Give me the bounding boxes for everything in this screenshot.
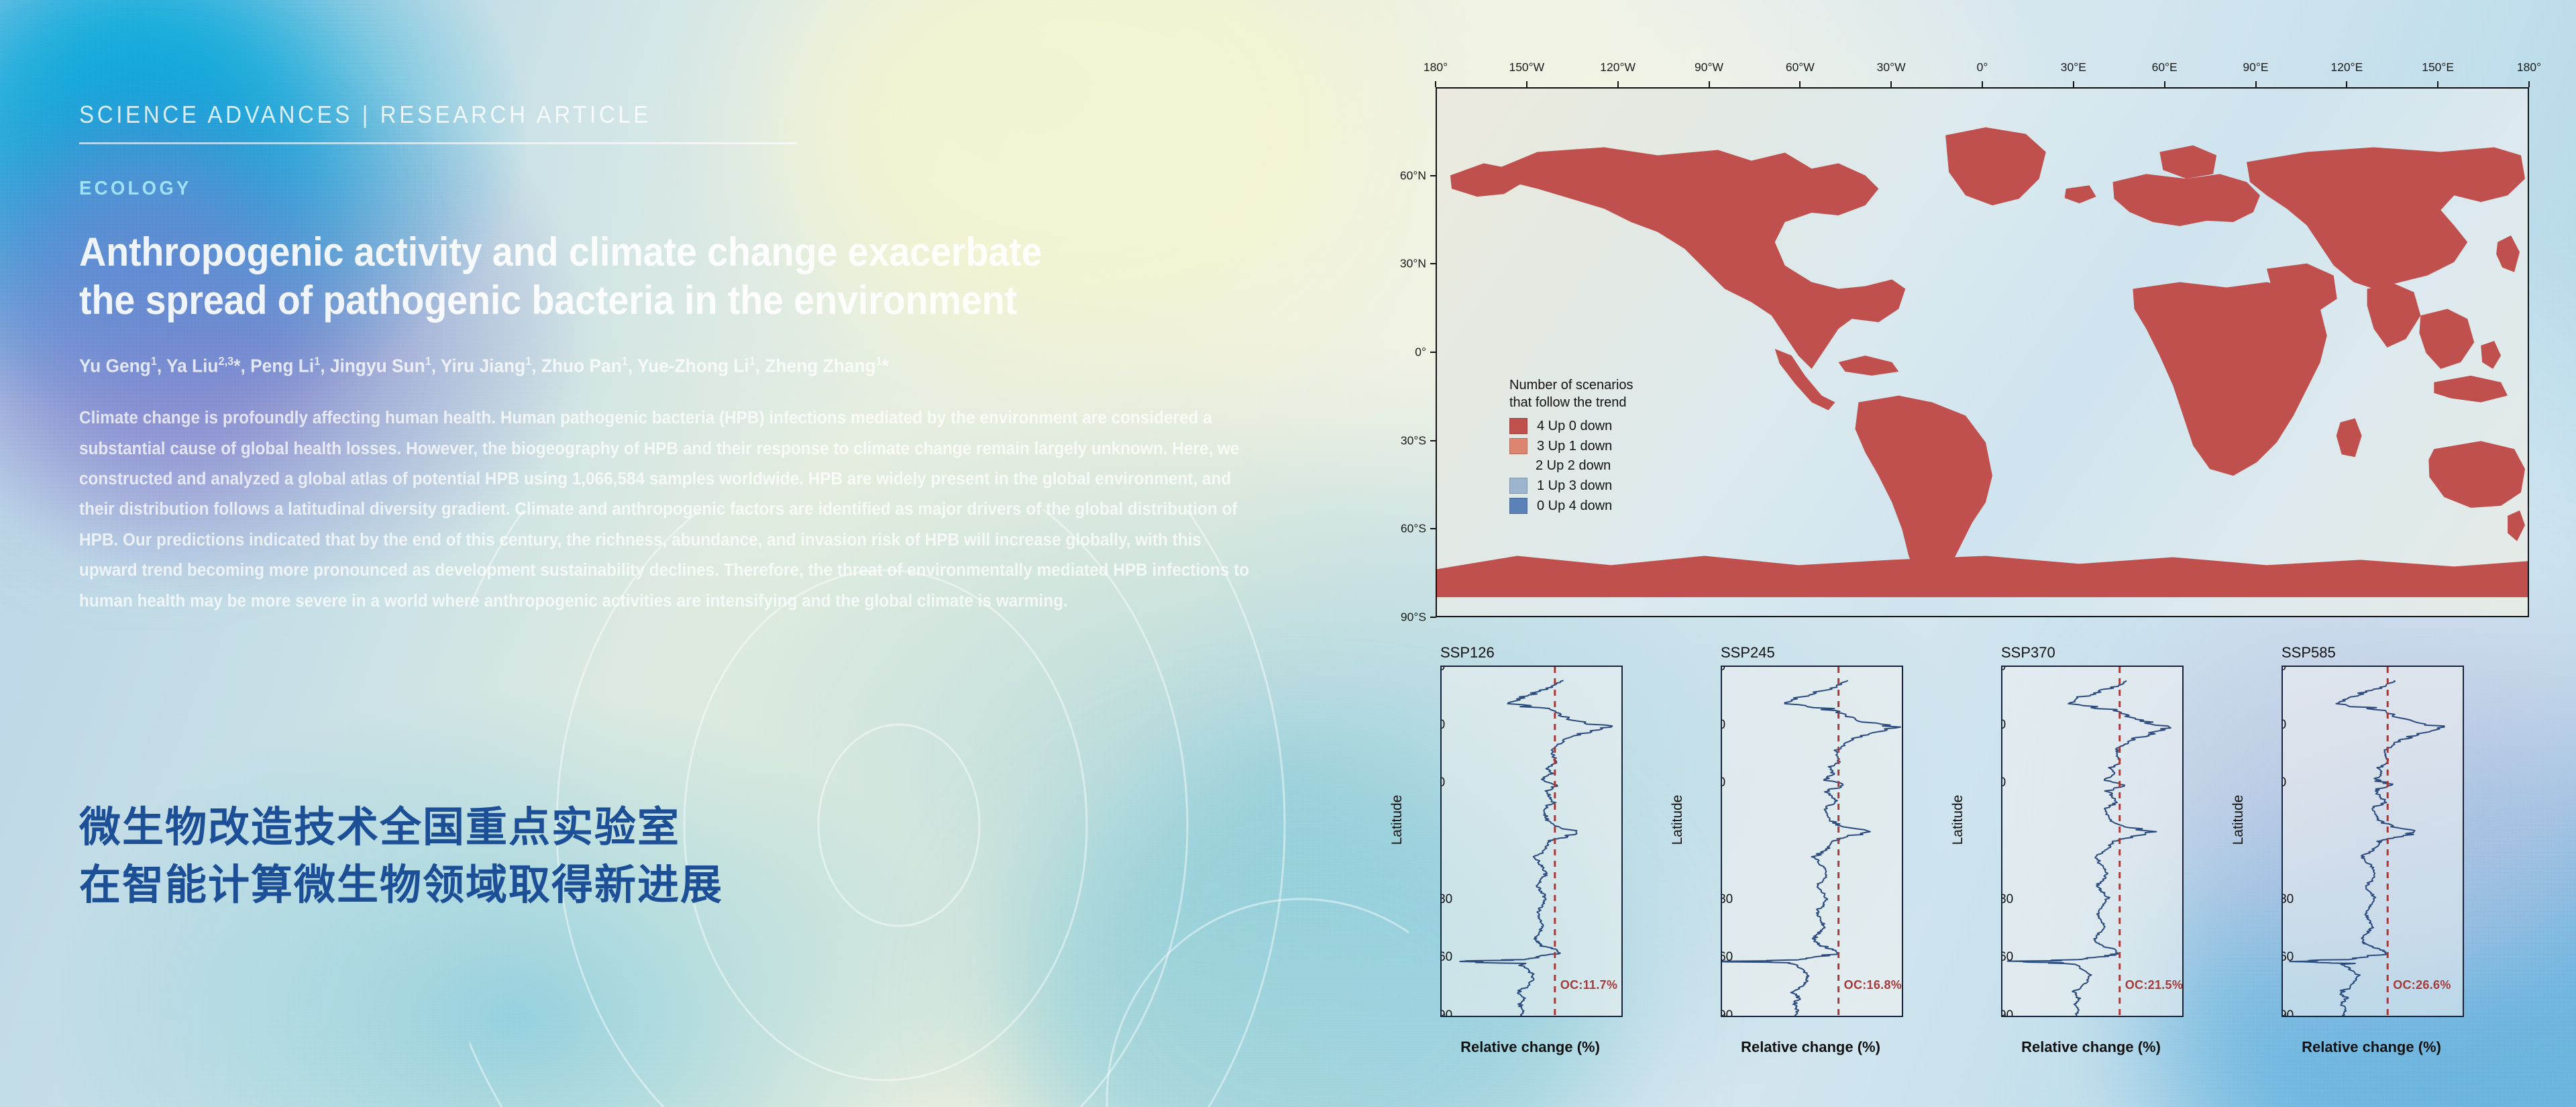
- panel-y-tick: [2001, 899, 2002, 900]
- panel-y-tick: [2282, 782, 2283, 784]
- panel-y-tick: [1440, 782, 1442, 784]
- article-text-column: SCIENCE ADVANCES | RESEARCH ARTICLE ECOL…: [79, 101, 1327, 617]
- panel-plot-area: 9060300−30−60−90−40−2002040OC:16.8%: [1721, 666, 1903, 1017]
- legend-label: 4 Up 0 down: [1537, 419, 1612, 434]
- panel-y-tick: [1721, 957, 1722, 958]
- map-lon-tick-label: 30°E: [2061, 60, 2086, 74]
- legend-label: 1 Up 3 down: [1537, 478, 1612, 494]
- legend-item: 3 Up 1 down: [1509, 438, 1737, 454]
- figure-panel: 180°150°W120°W90°W60°W30°W0°30°E60°E90°E…: [1399, 40, 2553, 1087]
- map-lat-tick-label: 60°S: [1401, 522, 1426, 536]
- map-lat-tick-label: 0°: [1415, 346, 1426, 360]
- panel-y-tick: [2282, 899, 2283, 900]
- ssp-panel-row: SSP1269060300−30−60−90−40−2002040OC:11.7…: [1399, 644, 2553, 1087]
- map-lon-tick: [1982, 81, 1983, 87]
- map-lon-tick: [2073, 81, 2074, 87]
- map-lon-tick: [1526, 81, 1527, 87]
- panel-y-tick: [1440, 666, 1442, 668]
- panel-plot-area: 9060300−30−60−90−50−250255075OC:26.6%: [2282, 666, 2464, 1017]
- map-lon-tick-label: 60°W: [1786, 60, 1815, 74]
- header-divider: [79, 142, 797, 144]
- map-lat-tick-label: 30°S: [1401, 433, 1426, 447]
- map-lon-tick: [2346, 81, 2347, 87]
- panel-y-tick: [2282, 957, 2283, 958]
- panel-y-axis-label: Latitude: [1389, 795, 1405, 845]
- panel-y-axis-label: Latitude: [1670, 795, 1686, 845]
- map-lon-tick-label: 120°E: [2330, 60, 2363, 74]
- map-lon-tick: [2528, 81, 2530, 87]
- ssp-panel-ssp126: SSP1269060300−30−60−90−40−2002040OC:11.7…: [1399, 644, 1679, 1087]
- map-lat-tick-label: 30°N: [1400, 257, 1426, 271]
- chinese-banner-line-2: 在智能计算微生物领域取得新进展: [79, 856, 1152, 914]
- title-line-2: the spread of pathogenic bacteria in the…: [79, 276, 1240, 325]
- panel-title: SSP245: [1721, 644, 1775, 662]
- map-landmasses: [1437, 89, 2528, 616]
- panel-y-tick: [1440, 841, 1442, 842]
- map-lon-tick: [1435, 81, 1436, 87]
- map-lon-tick: [1709, 81, 1710, 87]
- panel-series: [1722, 667, 1902, 1016]
- page-title: Anthropogenic activity and climate chang…: [79, 228, 1240, 325]
- panel-y-axis-label: Latitude: [1950, 795, 1966, 845]
- journal-kicker: SCIENCE ADVANCES | RESEARCH ARTICLE: [79, 101, 1227, 129]
- legend-swatch: [1509, 459, 1526, 474]
- oc-annotation: OC:26.6%: [2393, 978, 2451, 992]
- panel-series: [2283, 667, 2463, 1016]
- legend-item: 0 Up 4 down: [1509, 498, 1737, 514]
- panel-title: SSP370: [2001, 644, 2055, 662]
- world-map-figure: 180°150°W120°W90°W60°W30°W0°30°E60°E90°E…: [1436, 60, 2529, 617]
- map-lon-tick-label: 0°: [1977, 60, 1988, 74]
- map-plot-area: Number of scenarios that follow the tren…: [1436, 87, 2529, 617]
- panel-y-tick: [1440, 957, 1442, 958]
- legend-item: 1 Up 3 down: [1509, 478, 1737, 494]
- panel-y-tick: [2001, 841, 2002, 842]
- panel-y-tick: [1721, 841, 1722, 842]
- map-lon-tick-label: 90°W: [1695, 60, 1723, 74]
- map-lon-tick-label: 120°W: [1600, 60, 1635, 74]
- legend-title-line-1: Number of scenarios: [1509, 377, 1737, 394]
- map-lon-tick-label: 180°: [2517, 60, 2541, 74]
- ssp-panel-ssp245: SSP2459060300−30−60−90−40−2002040OC:16.8…: [1679, 644, 1960, 1087]
- legend-title-line-2: that follow the trend: [1509, 394, 1737, 412]
- oc-annotation: OC:11.7%: [1560, 978, 1617, 992]
- map-lon-tick: [2164, 81, 2165, 87]
- map-lon-tick: [1890, 81, 1892, 87]
- legend-label: 2 Up 2 down: [1536, 458, 1611, 474]
- panel-y-tick: [2001, 1015, 2002, 1016]
- panel-title: SSP585: [2282, 644, 2336, 662]
- oc-annotation: OC:21.5%: [2125, 978, 2183, 992]
- panel-x-axis-label: Relative change (%): [1721, 1039, 1900, 1056]
- map-lon-tick-label: 90°E: [2243, 60, 2268, 74]
- map-lon-tick-label: 180°: [1424, 60, 1448, 74]
- legend-item: 4 Up 0 down: [1509, 418, 1737, 434]
- title-line-1: Anthropogenic activity and climate chang…: [79, 228, 1240, 276]
- panel-y-tick: [2001, 666, 2002, 668]
- panel-x-axis-label: Relative change (%): [1440, 1039, 1620, 1056]
- panel-series: [2002, 667, 2182, 1016]
- map-lon-tick: [2255, 81, 2257, 87]
- legend-swatch: [1509, 438, 1527, 454]
- panel-y-tick: [1721, 1015, 1722, 1016]
- panel-y-tick: [1721, 782, 1722, 784]
- map-lon-tick: [1617, 81, 1619, 87]
- legend-label: 3 Up 1 down: [1537, 439, 1612, 454]
- panel-y-tick: [2001, 725, 2002, 726]
- panel-y-axis-label: Latitude: [2231, 795, 2247, 845]
- author-list: Yu Geng1, Ya Liu2,3*, Peng Li1, Jingyu S…: [79, 354, 1252, 376]
- panel-series: [1442, 667, 1621, 1016]
- panel-y-tick: [1721, 666, 1722, 668]
- map-lon-tick-label: 150°E: [2422, 60, 2454, 74]
- panel-title: SSP126: [1440, 644, 1495, 662]
- panel-plot-area: 9060300−30−60−90−40−2002040OC:11.7%: [1440, 666, 1623, 1017]
- panel-y-tick: [2282, 725, 2283, 726]
- oc-annotation: OC:16.8%: [1844, 978, 1902, 992]
- map-lon-tick-label: 60°E: [2152, 60, 2178, 74]
- panel-x-axis-label: Relative change (%): [2282, 1039, 2461, 1056]
- panel-y-tick: [2001, 957, 2002, 958]
- panel-plot-area: 9060300−30−60−90−50−2502550OC:21.5%: [2001, 666, 2184, 1017]
- poster-canvas: SCIENCE ADVANCES | RESEARCH ARTICLE ECOL…: [0, 0, 2576, 1107]
- ssp-panel-ssp370: SSP3709060300−30−60−90−50−2502550OC:21.5…: [1960, 644, 2240, 1087]
- abstract-text: Climate change is profoundly affecting h…: [79, 403, 1252, 617]
- map-lon-tick-label: 150°W: [1509, 60, 1544, 74]
- map-longitude-axis: 180°150°W120°W90°W60°W30°W0°30°E60°E90°E…: [1436, 60, 2529, 87]
- panel-y-tick: [2282, 1015, 2283, 1016]
- panel-y-tick: [2001, 782, 2002, 784]
- map-lat-tick-label: 60°N: [1400, 168, 1426, 182]
- legend-title: Number of scenarios that follow the tren…: [1509, 377, 1737, 411]
- legend-swatch: [1509, 418, 1527, 434]
- panel-x-axis-label: Relative change (%): [2001, 1039, 2181, 1056]
- legend-swatch: [1509, 498, 1527, 514]
- map-lat-tick-label: 90°S: [1401, 611, 1426, 625]
- legend-label: 0 Up 4 down: [1537, 498, 1612, 514]
- panel-y-tick: [1440, 725, 1442, 726]
- legend-item: 2 Up 2 down: [1509, 458, 1737, 474]
- panel-y-tick: [2282, 841, 2283, 842]
- panel-y-tick: [2282, 666, 2283, 668]
- panel-y-tick: [1440, 1015, 1442, 1016]
- subject-section-label: ECOLOGY: [79, 178, 1265, 200]
- map-lon-tick-label: 30°W: [1877, 60, 1906, 74]
- map-lon-tick: [2437, 81, 2438, 87]
- chinese-banner-line-1: 微生物改造技术全国重点实验室: [79, 798, 1152, 856]
- ssp-panel-ssp585: SSP5859060300−30−60−90−50−250255075OC:26…: [2240, 644, 2520, 1087]
- chinese-banner: 微生物改造技术全国重点实验室 在智能计算微生物领域取得新进展: [79, 798, 1152, 913]
- panel-y-tick: [1440, 899, 1442, 900]
- panel-y-tick: [1721, 899, 1722, 900]
- map-lon-tick: [1799, 81, 1801, 87]
- legend-swatch: [1509, 478, 1527, 494]
- map-legend: Number of scenarios that follow the tren…: [1509, 377, 1737, 514]
- panel-y-tick: [1721, 725, 1722, 726]
